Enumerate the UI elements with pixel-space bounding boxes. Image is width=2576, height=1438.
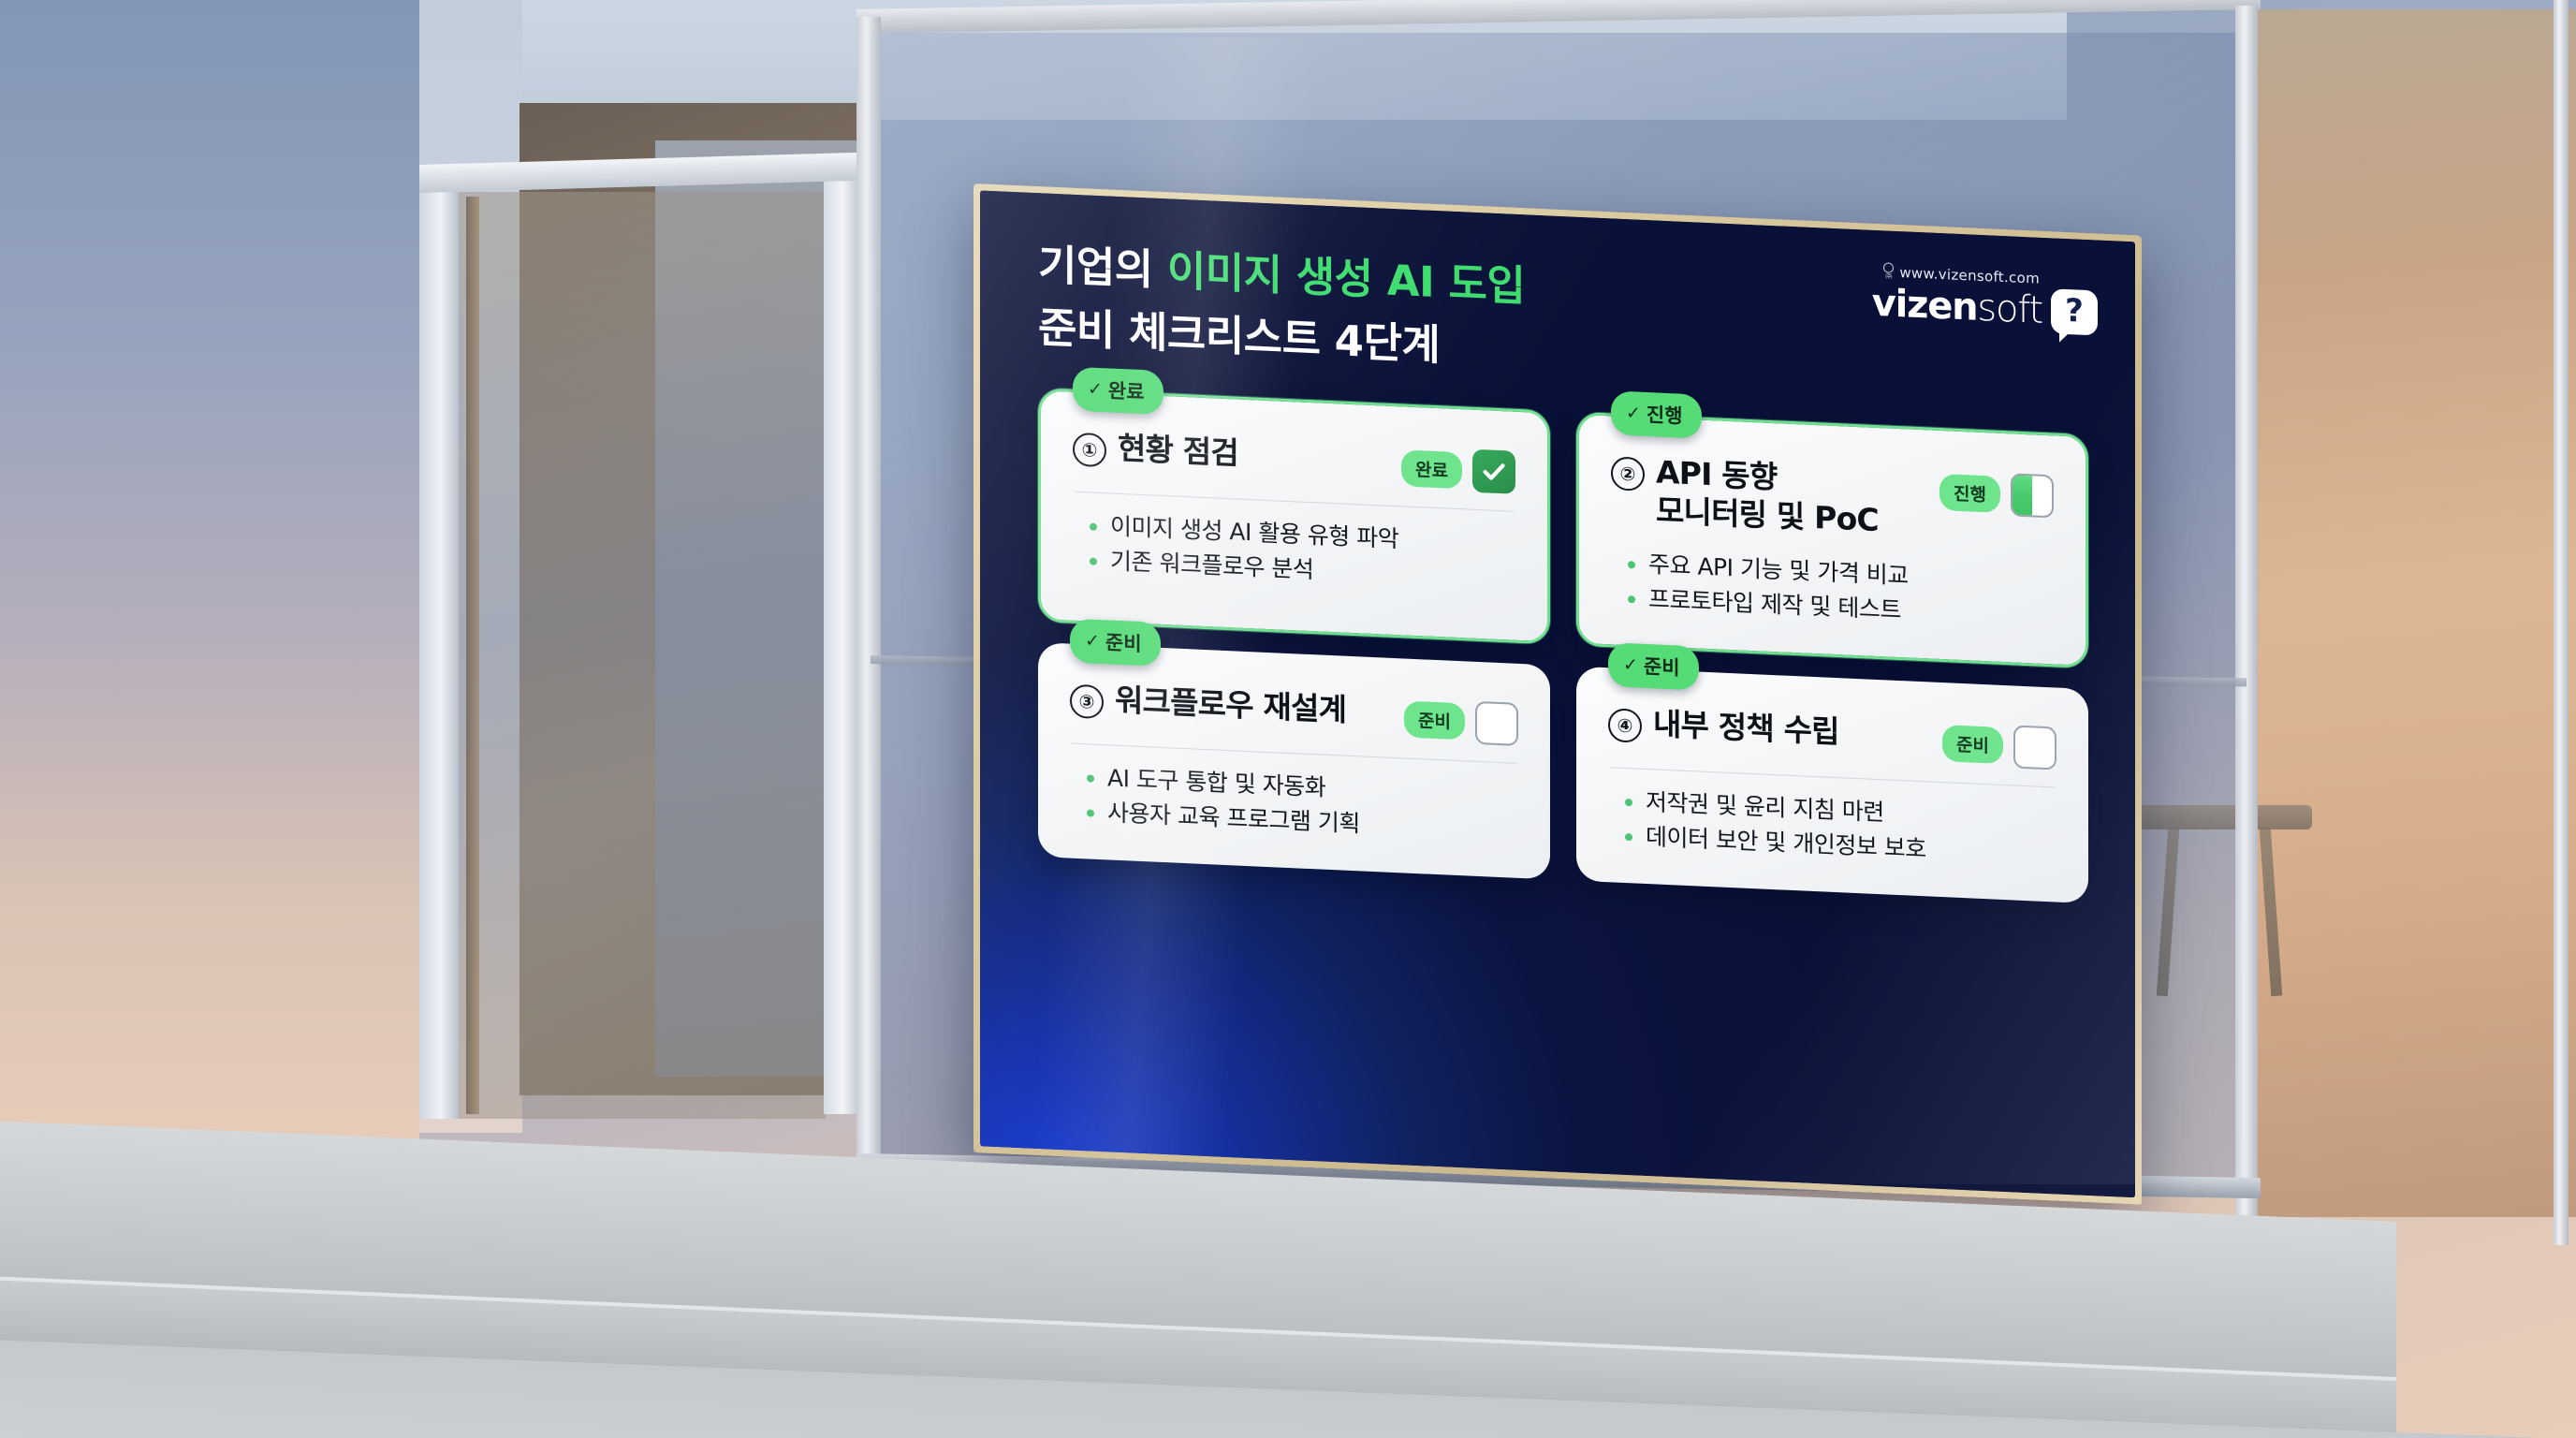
card-1-header: ① 현황 점검 완료 xyxy=(1073,428,1515,494)
card-4-header: ④ 내부 정책 수립 준비 xyxy=(1608,703,2056,770)
card-3-tab-label: 준비 xyxy=(1105,627,1142,657)
card-2-status-pill: 진행 xyxy=(1939,473,2000,512)
card-4-bullets: 저작권 및 윤리 지침 마련 데이터 보안 및 개인정보 보호 xyxy=(1608,783,2056,872)
checkmark-icon xyxy=(1480,457,1508,486)
copyright-icon: ㈜ xyxy=(1883,262,1894,280)
panel-frame: 기업의 이미지 생성 AI 도입 준비 체크리스트 4단계 ㈜ www.vize… xyxy=(973,183,2142,1205)
card-3-status-pill: 준비 xyxy=(1404,701,1465,741)
logo-word-thin: soft xyxy=(1977,286,2042,332)
card-4-status-tab: ✓ 준비 xyxy=(1608,642,1699,690)
headline-line1-plain: 기업의 xyxy=(1038,240,1167,295)
card-3-status-group: 준비 xyxy=(1404,697,1518,745)
card-1-status-pill: 완료 xyxy=(1401,449,1462,489)
card-1-status-group: 완료 xyxy=(1401,446,1515,493)
vizensoft-logo[interactable]: ㈜ www.vizensoft.com vizensoft ? xyxy=(1872,262,2098,336)
digital-signage-panel[interactable]: 기업의 이미지 생성 AI 도입 준비 체크리스트 4단계 ㈜ www.vize… xyxy=(973,183,2142,1205)
card-4-number: ④ xyxy=(1608,708,1642,743)
card-1-number: ① xyxy=(1073,433,1106,468)
checklist-grid: ✓ 완료 ① 현황 점검 완료 xyxy=(1038,388,2088,903)
question-mark-glyph: ? xyxy=(2065,295,2084,328)
card-4-status-pill: 준비 xyxy=(1942,725,2003,764)
card-4-title: 내부 정책 수립 xyxy=(1653,705,1839,752)
headline: 기업의 이미지 생성 AI 도입 준비 체크리스트 4단계 xyxy=(1038,238,1862,391)
interior-stool-seat xyxy=(2134,805,2312,829)
logo-word-bold: vizen xyxy=(1872,282,1978,330)
mullion-left xyxy=(856,17,881,1195)
check-icon: ✓ xyxy=(1626,403,1641,424)
checklist-card-2[interactable]: ✓ 진행 ② API 동향 모니터링 및 PoC 진행 xyxy=(1576,412,2088,668)
glass-panel-right-copper xyxy=(2247,9,2576,1217)
card-3-bullets: AI 도구 통합 및 자동화 사용자 교육 프로그램 기획 xyxy=(1070,758,1518,847)
entry-door-glass xyxy=(459,192,826,1119)
card-1-divider xyxy=(1075,492,1514,512)
card-2-status-group: 진행 xyxy=(1939,470,2054,518)
card-1-bullets: 이미지 생성 AI 활용 유형 파악 기존 워크플로우 분석 xyxy=(1073,507,1515,596)
checklist-card-1[interactable]: ✓ 완료 ① 현황 점검 완료 xyxy=(1038,388,1550,644)
card-3-header: ③ 워크플로우 재설계 준비 xyxy=(1070,679,1518,745)
card-2-title: API 동향 모니터링 및 PoC xyxy=(1656,453,1879,539)
card-3-number: ③ xyxy=(1070,683,1104,719)
logo-mark-row: vizensoft ? xyxy=(1872,281,2098,336)
card-3-checkbox-unchecked[interactable] xyxy=(1475,701,1518,746)
card-3-title: 워크플로우 재설계 xyxy=(1115,682,1346,730)
card-1-title: 현황 점검 xyxy=(1118,430,1238,474)
panel-screen: 기업의 이미지 생성 AI 도입 준비 체크리스트 4단계 ㈜ www.vize… xyxy=(980,190,2135,1197)
registered-glyph: ㈜ xyxy=(1885,273,1892,280)
card-2-status-tab: ✓ 진행 xyxy=(1611,390,1702,438)
mullion-far-right xyxy=(2554,0,2569,1245)
door-frame-left xyxy=(419,183,459,1119)
card-4-checkbox-unchecked[interactable] xyxy=(2013,725,2056,770)
card-3-status-tab: ✓ 준비 xyxy=(1070,618,1161,666)
card-1-title-wrap: ① 현황 점검 xyxy=(1073,428,1388,480)
card-2-tab-label: 진행 xyxy=(1647,400,1683,430)
card-1-checkbox-checked[interactable] xyxy=(1472,449,1515,494)
check-icon: ✓ xyxy=(1623,654,1638,676)
card-2-checkbox-partial[interactable] xyxy=(2011,473,2054,518)
speech-bubble-question-icon: ? xyxy=(2051,288,2098,335)
card-3-divider xyxy=(1072,742,1516,763)
headline-line1-accent: 이미지 생성 AI 도입 xyxy=(1167,245,1525,311)
card-3-title-wrap: ③ 워크플로우 재설계 xyxy=(1070,679,1391,731)
checklist-card-4[interactable]: ✓ 준비 ④ 내부 정책 수립 준비 xyxy=(1576,666,2088,902)
card-1-status-tab: ✓ 완료 xyxy=(1073,367,1164,415)
check-icon: ✓ xyxy=(1088,378,1103,400)
mullion-right xyxy=(2235,6,2258,1223)
storefront-scene: 기업의 이미지 생성 AI 도입 준비 체크리스트 4단계 ㈜ www.vize… xyxy=(0,0,2576,1438)
checklist-card-3[interactable]: ✓ 준비 ③ 워크플로우 재설계 준비 xyxy=(1038,642,1550,879)
entry-door-stile xyxy=(466,197,479,1114)
half-fill xyxy=(2012,475,2032,515)
card-4-divider xyxy=(1610,767,2055,787)
card-4-status-group: 준비 xyxy=(1942,722,2056,770)
exterior-wall-left xyxy=(0,0,419,1152)
card-1-tab-label: 완료 xyxy=(1108,375,1145,405)
card-2-title-wrap: ② API 동향 모니터링 및 PoC xyxy=(1611,451,1926,542)
check-icon: ✓ xyxy=(1085,630,1100,652)
card-4-title-wrap: ④ 내부 정책 수립 xyxy=(1608,703,1929,756)
logo-wordmark: vizensoft xyxy=(1872,285,2042,330)
card-2-number: ② xyxy=(1611,456,1645,492)
card-4-tab-label: 준비 xyxy=(1644,652,1680,682)
door-frame-right xyxy=(824,169,861,1114)
